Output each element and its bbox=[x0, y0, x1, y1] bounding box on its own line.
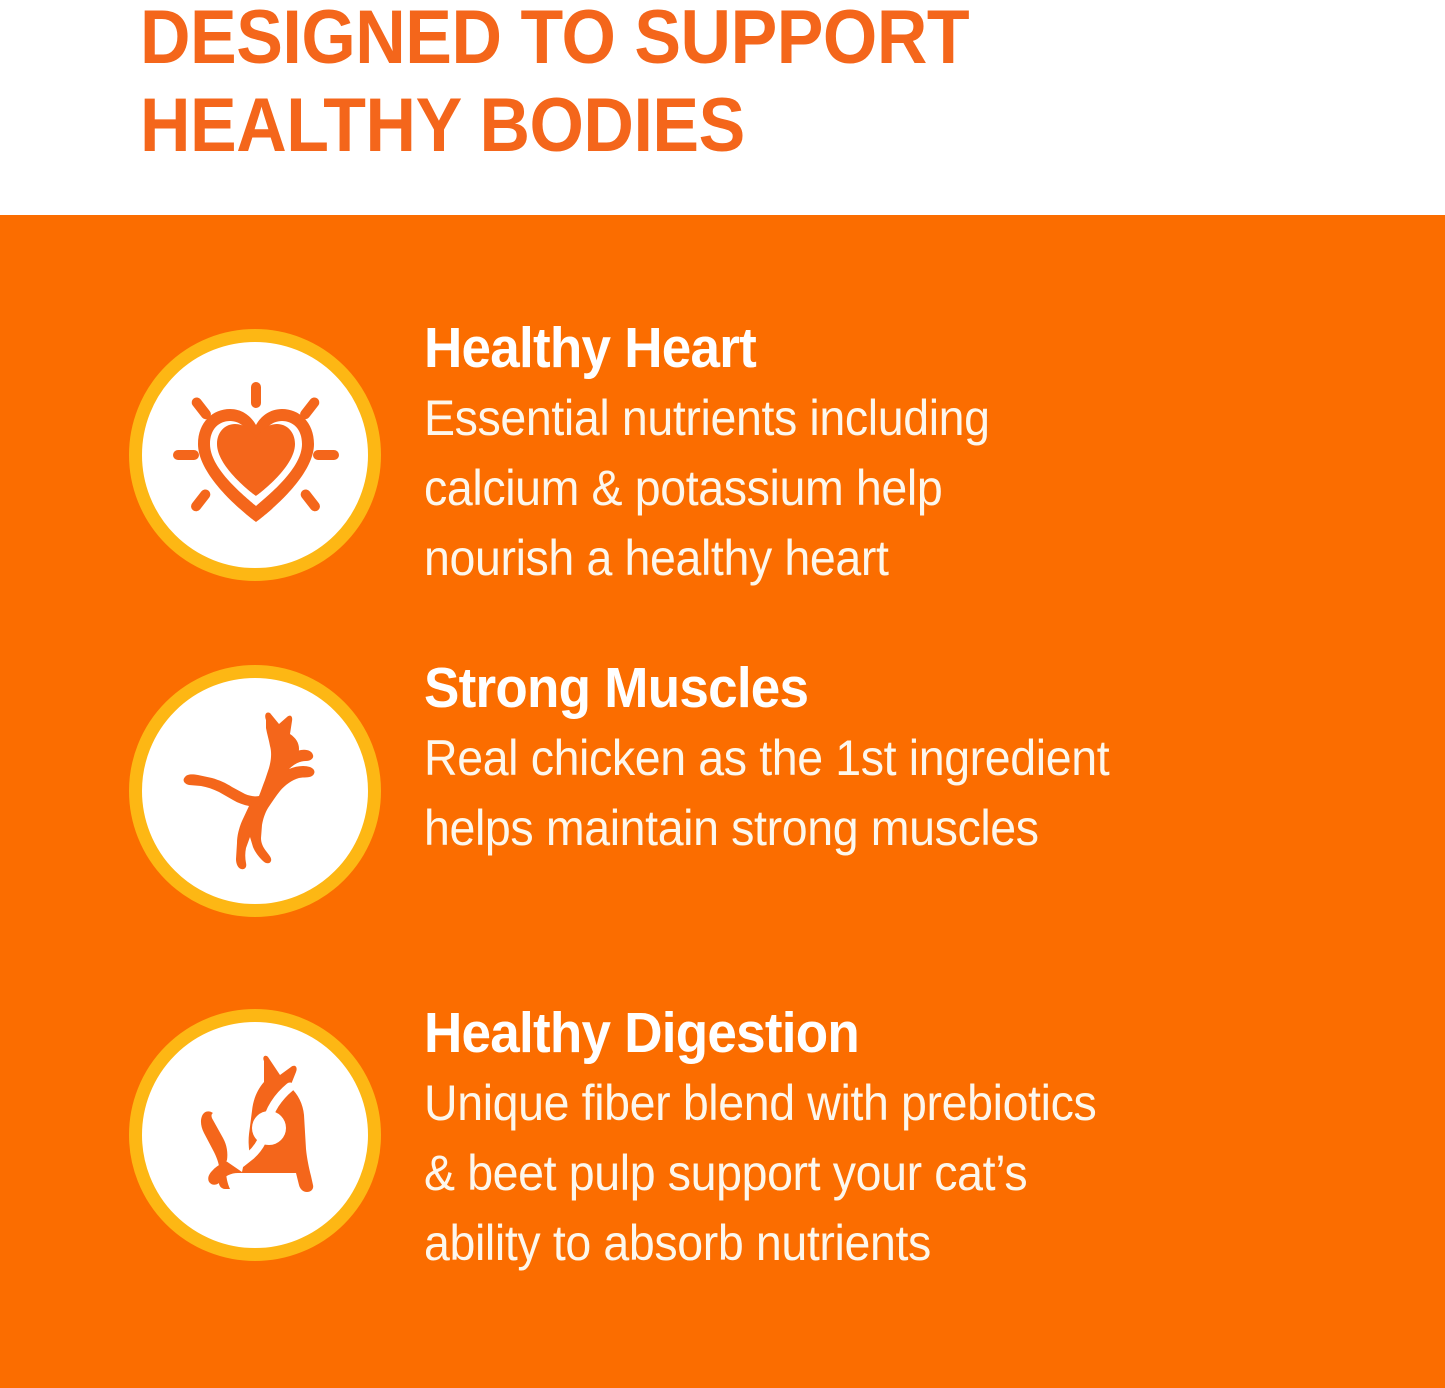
feature-title: Healthy Digestion bbox=[424, 1000, 1354, 1066]
feature-description: Essential nutrients including calcium & … bbox=[424, 383, 1354, 593]
feature-title: Strong Muscles bbox=[424, 655, 1354, 721]
feature-text-block: Strong Muscles Real chicken as the 1st i… bbox=[424, 655, 1424, 863]
header-band: DESIGNED TO SUPPORT HEALTHY BODIES bbox=[0, 0, 1445, 215]
feature-text-block: Healthy Digestion Unique fiber blend wit… bbox=[424, 1000, 1424, 1278]
sitting-cat-digestion-icon bbox=[168, 1053, 343, 1218]
feature-icon-badge bbox=[129, 665, 381, 917]
radiant-heart-icon bbox=[170, 380, 340, 530]
features-panel: Healthy Heart Essential nutrients includ… bbox=[0, 215, 1445, 1388]
feature-description: Unique fiber blend with prebiotics & bee… bbox=[424, 1068, 1354, 1278]
page-title: DESIGNED TO SUPPORT HEALTHY BODIES bbox=[140, 0, 1198, 170]
feature-icon-badge bbox=[129, 1009, 381, 1261]
feature-icon-badge bbox=[129, 329, 381, 581]
feature-description: Real chicken as the 1st ingredient helps… bbox=[424, 723, 1354, 863]
feature-title: Healthy Heart bbox=[424, 315, 1354, 381]
marketing-feature-panel: DESIGNED TO SUPPORT HEALTHY BODIES bbox=[0, 0, 1445, 1388]
feature-text-block: Healthy Heart Essential nutrients includ… bbox=[424, 315, 1424, 593]
leaping-cat-icon bbox=[165, 706, 345, 876]
